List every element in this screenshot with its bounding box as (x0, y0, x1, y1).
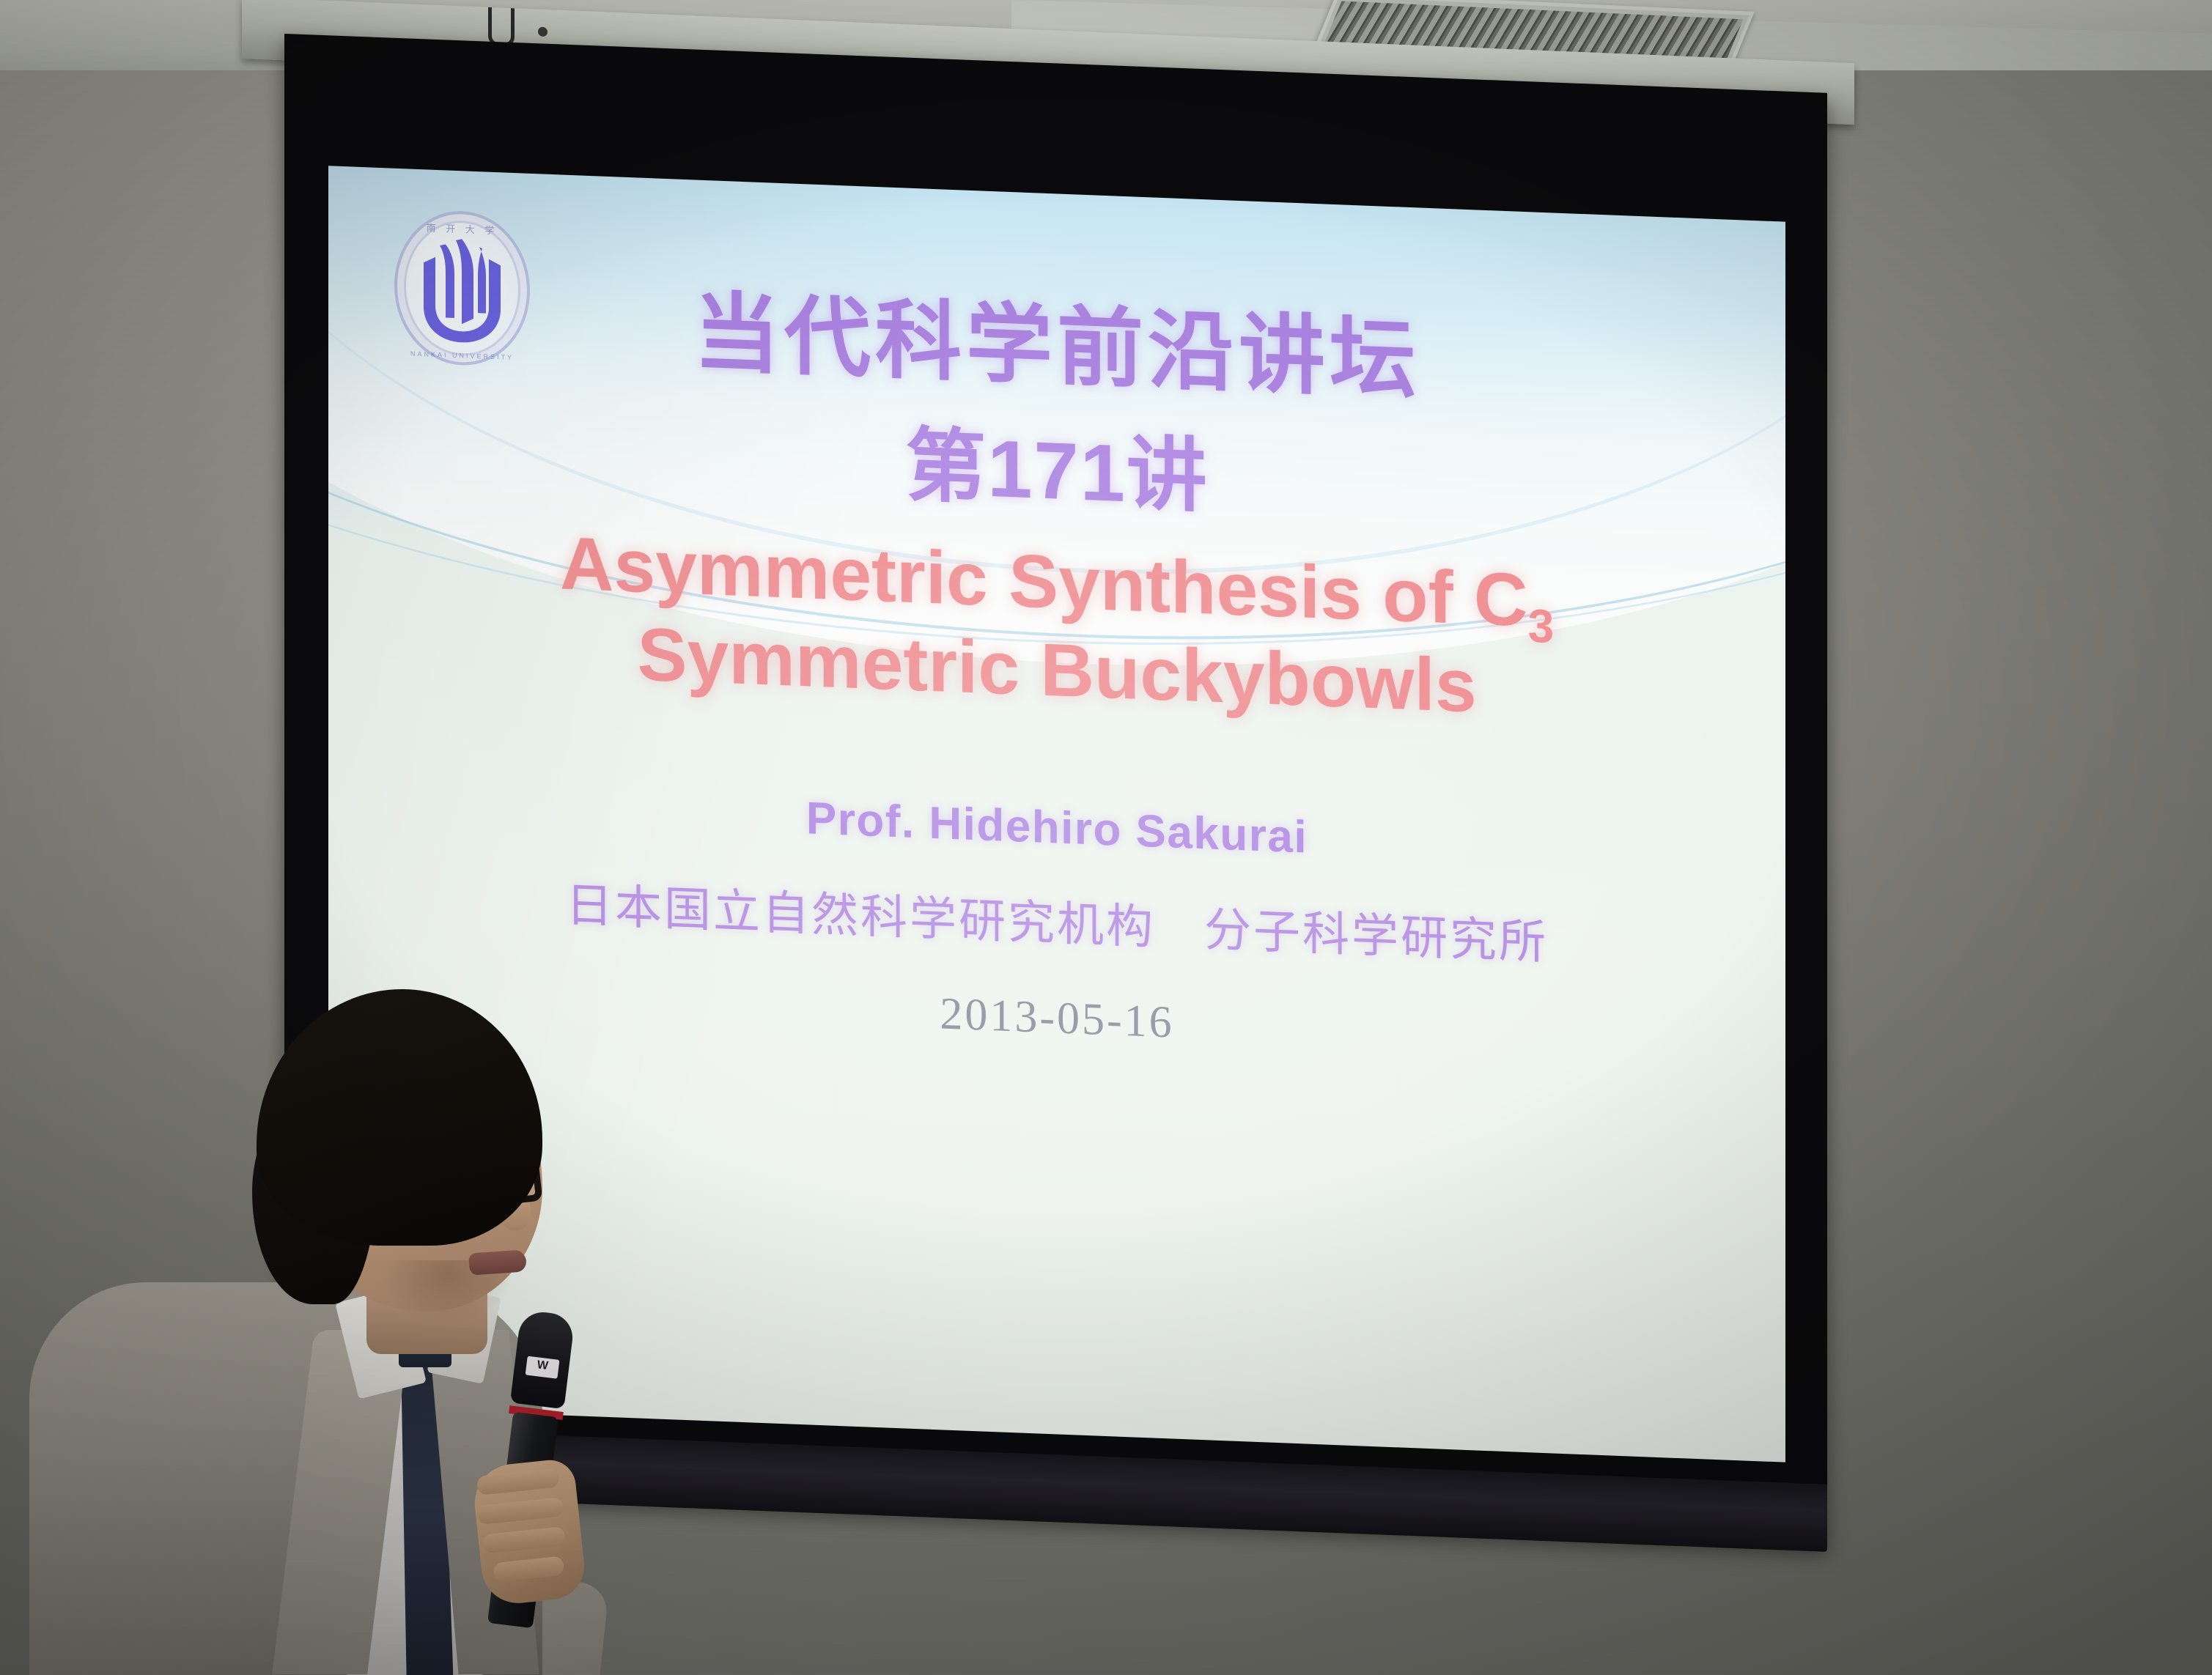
presenter-mouth (468, 1249, 527, 1275)
presenter: W (73, 997, 630, 1675)
finger-4 (493, 1556, 564, 1582)
slide-english-title-subscript: 3 (1528, 599, 1555, 653)
microphone-brand-plate: W (526, 1356, 560, 1379)
microphone-head-icon: W (510, 1309, 575, 1409)
finger-1 (476, 1468, 560, 1495)
finger-3 (482, 1526, 566, 1554)
slide-speaker-name: Prof. Hidehiro Sakurai (328, 774, 1785, 881)
lecture-scene: 南 开 大 学 NANKAI UNIVERSITY 当代科学前沿讲坛 第171讲… (0, 0, 2212, 1675)
microphone-brand-mark: W (526, 1358, 559, 1375)
slide-english-title: Asymmetric Synthesis of C3 Symmetric Buc… (328, 510, 1785, 742)
slide-affiliation: 日本国立自然科学研究机构 分子科学研究所 (328, 858, 1785, 981)
finger-2 (476, 1497, 564, 1525)
presenter-hand (471, 1457, 587, 1607)
roller-screw-icon (538, 27, 548, 37)
presenter-hair (257, 989, 542, 1246)
